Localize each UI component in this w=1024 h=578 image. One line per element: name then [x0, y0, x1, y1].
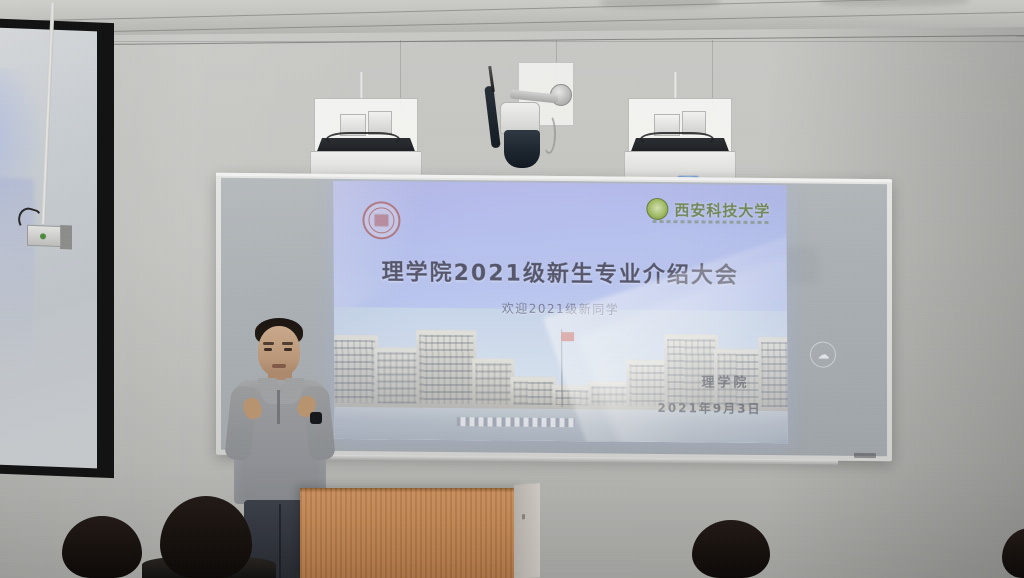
projector-right-cable — [640, 132, 714, 146]
screen-bracket — [60, 225, 72, 249]
projected-slide: 西安科技大学 理学院2021级新生专业介绍大会 欢迎2021级新同学 理学院 2… — [333, 181, 788, 443]
projection-screen-left — [0, 17, 114, 478]
presenter-eye-left — [264, 348, 272, 351]
soffit-smudge-2 — [820, 0, 970, 7]
university-emblem-icon — [646, 198, 668, 220]
classroom-photo-scene: ☁ — [0, 0, 1024, 578]
college-seal-icon — [362, 201, 400, 239]
projector-left-ceiling-rod — [360, 72, 363, 100]
podium-wood-grain — [300, 488, 524, 578]
college-seal-core — [374, 214, 388, 226]
podium-side-panel — [514, 483, 540, 578]
university-name: 西安科技大学 — [674, 199, 770, 221]
projector-right-ceiling-rod — [674, 72, 677, 100]
presenter-head — [258, 326, 300, 376]
wooden-podium — [300, 488, 524, 578]
university-logo: 西安科技大学 — [646, 198, 770, 221]
presenter-mouth — [272, 364, 286, 368]
presenter-brow-left — [263, 342, 274, 345]
presenter-eye-right — [284, 348, 292, 351]
presenter-jeans-seam — [279, 504, 281, 578]
wall-horizontal-seam — [0, 41, 1024, 42]
presenter-shirt-placket — [277, 390, 280, 424]
cloud-icon[interactable]: ☁ — [810, 341, 836, 367]
camera-dome-icon — [504, 130, 540, 168]
projector-left-cable — [326, 132, 400, 146]
camera-cable — [542, 114, 556, 154]
screen-reflection — [0, 174, 34, 369]
presenter-wristwatch — [310, 412, 322, 424]
status-led-icon — [40, 233, 46, 239]
soffit-smudge-1 — [600, 0, 720, 9]
whiteboard-corner-clip — [854, 453, 876, 458]
college-seal-inner-ring — [368, 207, 394, 233]
presenter-brow-right — [282, 342, 293, 345]
podium-side-notch — [522, 514, 525, 519]
